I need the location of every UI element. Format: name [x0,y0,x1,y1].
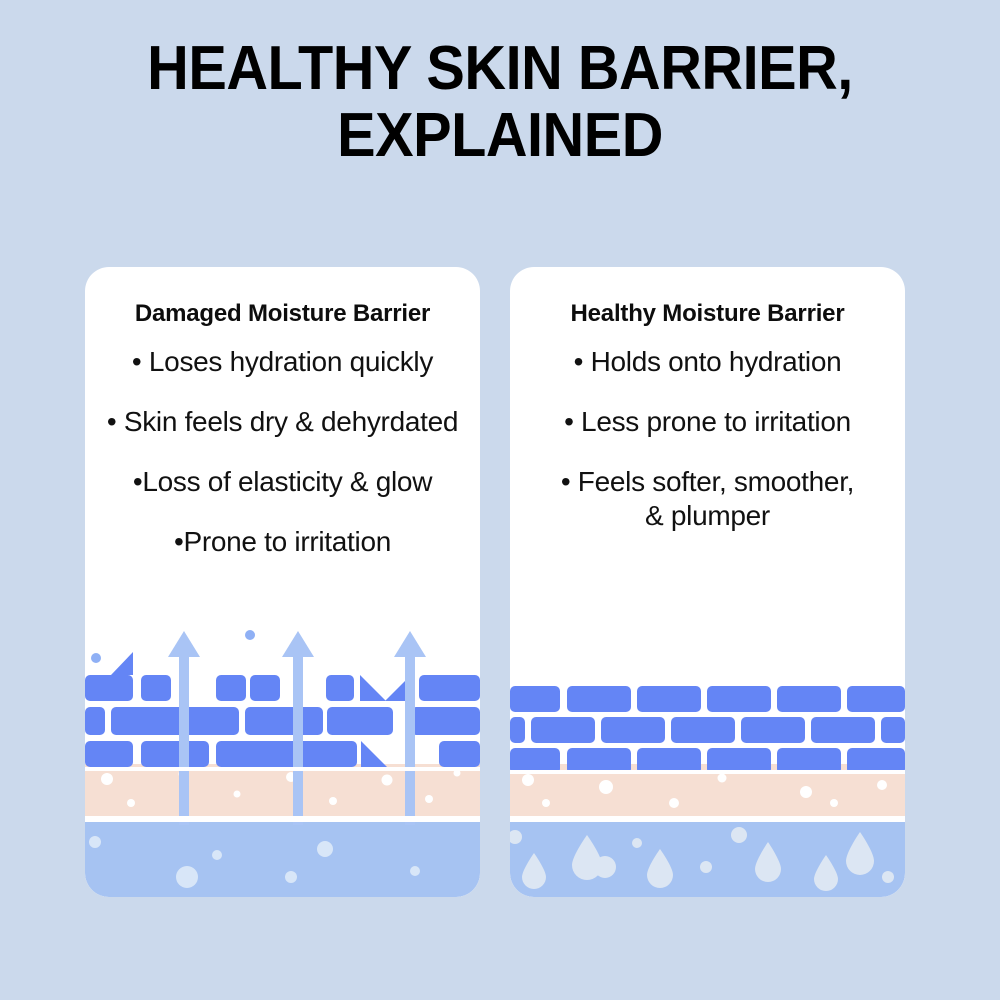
card-healthy-moisture-barrier: Healthy Moisture Barrier • Holds onto hy… [510,267,905,897]
healthy-barrier-diagram [510,627,905,897]
list-item: • Skin feels dry & dehyrdated [85,405,480,439]
bubble [731,827,747,843]
page-title: HEALTHY SKIN BARRIER, EXPLAINED [35,36,965,170]
card-damaged-bullet-list: • Loses hydration quickly • Skin feels d… [85,345,480,586]
bubble [594,856,616,878]
list-item: • Holds onto hydration [510,345,905,379]
card-healthy-bullet-list: • Holds onto hydration • Less prone to i… [510,345,905,560]
bubble [632,838,642,848]
broken-brick-triangle [111,652,133,675]
list-item: •Loss of elasticity & glow [85,465,480,499]
water-reservoir-layer [85,822,480,897]
bubble [882,871,894,883]
water-reservoir-layer [510,822,905,897]
intact-brick-wall [510,686,905,774]
list-item: • Loses hydration quickly [85,345,480,379]
broken-brick-wall [85,652,480,767]
card-damaged-heading: Damaged Moisture Barrier [85,300,480,328]
damaged-barrier-diagram [85,627,480,897]
dermis-layer [85,764,480,816]
card-healthy-heading: Healthy Moisture Barrier [510,300,905,328]
debris-dots [91,630,255,663]
list-item: • Feels softer, smoother, & plumper [510,465,905,533]
list-item: •Prone to irritation [85,525,480,559]
broken-brick-triangle [361,741,387,767]
broken-brick-triangle [360,675,386,701]
card-damaged-moisture-barrier: Damaged Moisture Barrier • Loses hydrati… [85,267,480,897]
list-item: • Less prone to irritation [510,405,905,439]
bubble [700,861,712,873]
